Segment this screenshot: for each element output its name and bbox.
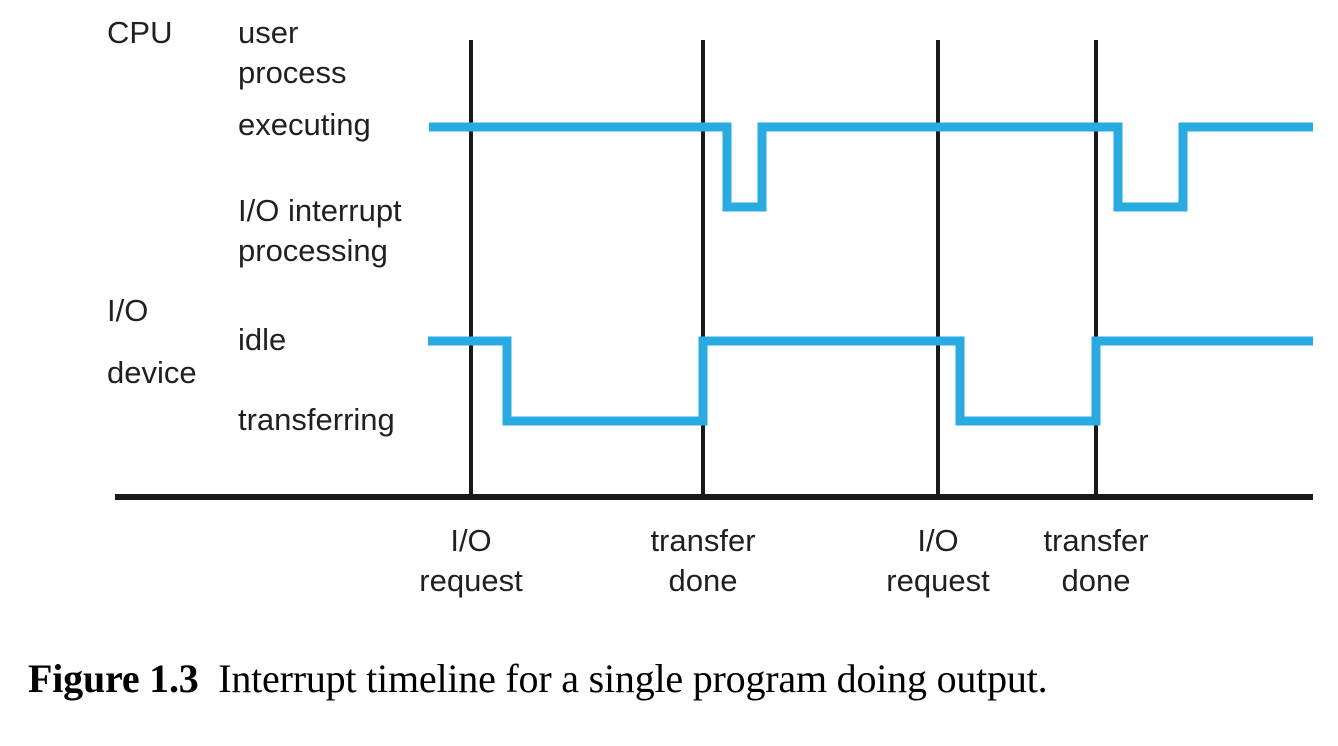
- io-device-waveform: [428, 341, 1313, 421]
- event-label-2-line1: transfer: [650, 523, 755, 558]
- row-label-io-device-line1: I/O: [107, 293, 148, 328]
- event-label-4-line1: transfer: [1043, 523, 1148, 558]
- io-state-high-label: idle: [238, 322, 286, 357]
- event-label-3-line1: I/O: [917, 523, 958, 558]
- cpu-state-high-label-line2: process: [238, 55, 347, 90]
- event-label-1-line2: request: [419, 563, 523, 598]
- row-label-cpu: CPU: [107, 15, 172, 50]
- interrupt-timeline-figure: CPU user process executing I/O interrupt…: [0, 0, 1338, 630]
- event-label-2-line2: done: [669, 563, 738, 598]
- figure-caption-text: Interrupt timeline for a single program …: [218, 656, 1047, 701]
- cpu-state-low-label-line2: processing: [238, 233, 388, 268]
- event-label-4-line2: done: [1062, 563, 1131, 598]
- cpu-state-high-label-line1: user: [238, 15, 298, 50]
- cpu-state-high-label-line3: executing: [238, 107, 371, 142]
- cpu-state-low-label-line1: I/O interrupt: [238, 193, 402, 228]
- cpu-waveform: [429, 127, 1313, 207]
- event-label-3-line2: request: [886, 563, 990, 598]
- figure-caption-label: Figure 1.3: [28, 656, 199, 701]
- event-label-1-line1: I/O: [450, 523, 491, 558]
- row-label-io-device-line2: device: [107, 355, 197, 390]
- io-state-low-label: transferring: [238, 402, 395, 437]
- timeline-svg: CPU user process executing I/O interrupt…: [0, 0, 1338, 630]
- figure-caption: Figure 1.3 Interrupt timeline for a sing…: [28, 655, 1318, 702]
- figure-page: CPU user process executing I/O interrupt…: [0, 0, 1338, 746]
